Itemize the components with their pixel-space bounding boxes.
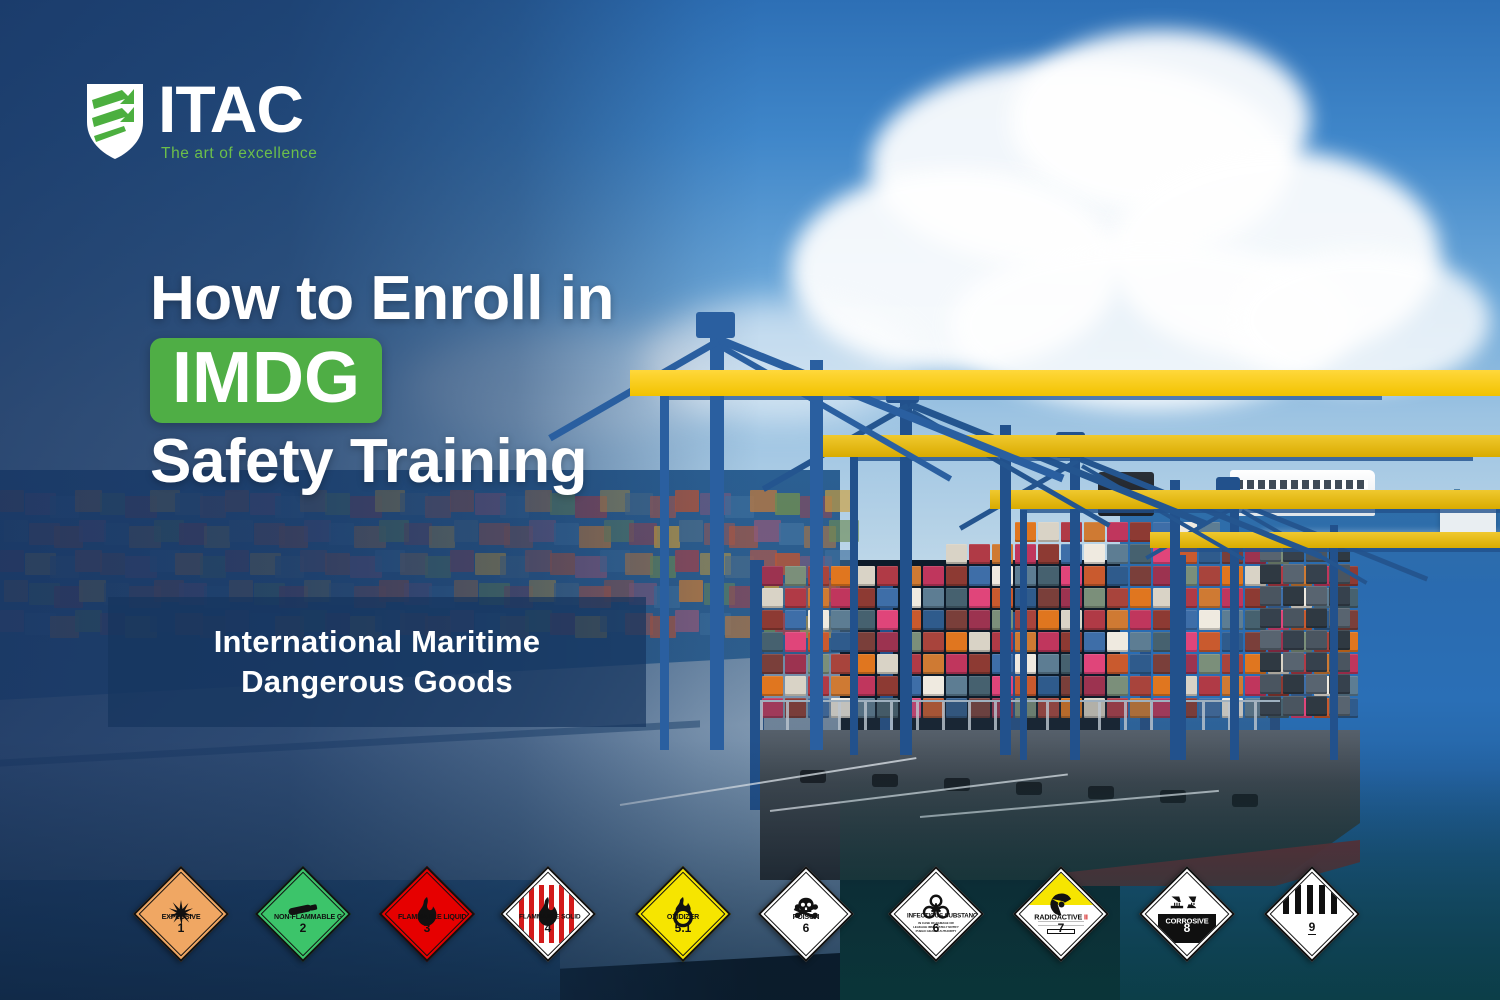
placard-diamond: INFECTIOUS SUBSTANCEIN CASE OF DAMAGE OR… xyxy=(888,866,984,962)
shipping-container xyxy=(1084,566,1105,586)
crane-boom xyxy=(630,370,1500,396)
shipping-container xyxy=(1260,630,1281,650)
shipping-container xyxy=(946,588,967,608)
shipping-container xyxy=(1306,652,1327,672)
placard-content: POISON6 xyxy=(777,885,835,943)
shipping-container xyxy=(1038,566,1059,586)
shipping-container xyxy=(946,566,967,586)
shipping-container xyxy=(923,566,944,586)
placard-inner-border: OXIDIZER5.1 xyxy=(641,872,726,957)
placard-class-number: 5.1 xyxy=(654,921,712,935)
shipping-container xyxy=(1260,608,1281,628)
boom-truss xyxy=(850,457,1473,461)
placard-content: RADIOACTIVE II7 xyxy=(1032,885,1090,943)
placard-diamond: 9 xyxy=(1264,866,1360,962)
shipping-container xyxy=(1038,588,1059,608)
shipping-container xyxy=(969,566,990,586)
crane-leg xyxy=(1180,555,1186,760)
shipping-container xyxy=(969,632,990,652)
shipping-container xyxy=(1199,566,1220,586)
shipping-container xyxy=(1130,588,1151,608)
logo-wordmark: ITAC xyxy=(158,78,317,141)
shipping-container xyxy=(831,654,852,674)
shipping-container xyxy=(1283,630,1304,650)
itac-logo[interactable]: ITAC The art of excellence xyxy=(84,78,317,163)
shipping-container xyxy=(1084,522,1105,542)
shipping-container xyxy=(762,676,783,696)
hazard-placard[interactable]: 9 xyxy=(1264,866,1360,962)
shipping-container xyxy=(1283,564,1304,584)
shipping-container xyxy=(946,632,967,652)
shipping-container xyxy=(762,654,783,674)
shipping-container xyxy=(1038,544,1059,564)
shipping-container xyxy=(946,654,967,674)
shipping-container xyxy=(1107,544,1128,564)
placard-diamond: FLAMMABLE SOLID4 xyxy=(500,866,596,962)
shipping-container xyxy=(1306,674,1327,694)
placard-label: FLAMMABLE SOLID xyxy=(519,913,577,920)
shipping-container xyxy=(1306,696,1327,716)
boom-truss xyxy=(660,396,1382,400)
shipping-container xyxy=(1260,564,1281,584)
hazard-placard[interactable]: RADIOACTIVE II7 xyxy=(1013,866,1109,962)
placard-class-number: 6 xyxy=(907,921,965,935)
shipping-container xyxy=(1107,676,1128,696)
hazard-placard[interactable]: NON-FLAMMABLE GAS2 xyxy=(255,866,351,962)
shipping-container xyxy=(1084,676,1105,696)
placard-diamond: EXPLOSIVE1 xyxy=(133,866,229,962)
shipping-container xyxy=(1283,586,1304,606)
shipping-container xyxy=(1084,632,1105,652)
shipping-container xyxy=(1283,608,1304,628)
placard-inner-border: 9 xyxy=(1270,872,1355,957)
hazard-placard[interactable]: CORROSIVE8 xyxy=(1139,866,1235,962)
placard-inner-border: FLAMMABLE SOLID4 xyxy=(506,872,591,957)
shipping-container xyxy=(831,676,852,696)
placard-inner-border: CORROSIVE8 xyxy=(1145,872,1230,957)
shipping-container xyxy=(831,610,852,630)
shipping-container xyxy=(785,632,806,652)
placard-class-number: 1 xyxy=(152,921,210,935)
shipping-container xyxy=(1199,610,1220,630)
class9-stripe-band xyxy=(1283,885,1341,914)
shipping-container xyxy=(877,566,898,586)
shipping-container xyxy=(785,610,806,630)
placard-inner-border: RADIOACTIVE II7 xyxy=(1019,872,1104,957)
placard-content: INFECTIOUS SUBSTANCEIN CASE OF DAMAGE OR… xyxy=(907,885,965,943)
placard-class-number: 6 xyxy=(777,921,835,935)
shipping-container xyxy=(1084,588,1105,608)
placard-diamond: CORROSIVE8 xyxy=(1139,866,1235,962)
shipping-container xyxy=(877,610,898,630)
shipping-container xyxy=(1306,586,1327,606)
placard-label: POISON xyxy=(777,913,835,921)
headline-line-3: Safety Training xyxy=(150,431,770,493)
crane-head xyxy=(696,312,735,338)
placard-content: CORROSIVE8 xyxy=(1158,885,1216,943)
placard-diamond: OXIDIZER5.1 xyxy=(635,866,731,962)
placard-inner-border: NON-FLAMMABLE GAS2 xyxy=(261,872,346,957)
shipping-container xyxy=(1283,674,1304,694)
placard-diamond: RADIOACTIVE II7 xyxy=(1013,866,1109,962)
shipping-container xyxy=(1084,544,1105,564)
shipping-container xyxy=(923,654,944,674)
shipping-container xyxy=(1038,522,1059,542)
crane-boom xyxy=(820,435,1500,457)
crane-leg xyxy=(850,455,858,755)
shipping-container xyxy=(1107,654,1128,674)
placard-content: NON-FLAMMABLE GAS2 xyxy=(274,885,332,943)
placard-diamond: FLAMMABLE LIQUID3 xyxy=(379,866,475,962)
placard-content: OXIDIZER5.1 xyxy=(654,885,712,943)
shipping-container xyxy=(1306,630,1327,650)
placard-inner-border: FLAMMABLE LIQUID3 xyxy=(385,872,470,957)
shipping-container xyxy=(1283,652,1304,672)
crane-leg xyxy=(1020,510,1027,760)
shipping-container xyxy=(1107,632,1128,652)
hazard-placard[interactable]: FLAMMABLE SOLID4 xyxy=(500,866,596,962)
placard-label: OXIDIZER xyxy=(654,913,712,921)
subtitle-line-2: Dangerous Goods xyxy=(241,662,513,702)
imdg-badge-label: IMDG xyxy=(172,338,360,418)
shipping-container xyxy=(923,610,944,630)
shipping-container xyxy=(946,544,967,564)
shipping-container xyxy=(785,566,806,586)
shipping-container xyxy=(1199,632,1220,652)
shipping-container xyxy=(1130,654,1151,674)
shipping-container xyxy=(946,610,967,630)
shipping-container xyxy=(785,676,806,696)
shipping-container xyxy=(1130,522,1151,542)
shipping-container xyxy=(1038,632,1059,652)
shipping-container xyxy=(1038,676,1059,696)
placard-inner-border: POISON6 xyxy=(764,872,849,957)
placard-label: INFECTIOUS SUBSTANCE xyxy=(907,912,965,919)
logo-tagline: The art of excellence xyxy=(161,145,317,163)
subtitle-panel: International Maritime Dangerous Goods xyxy=(108,597,646,727)
shipping-container xyxy=(877,676,898,696)
hazard-placard-row: EXPLOSIVE1 NON-FLAMMABLE GAS2 FLAM xyxy=(0,858,1500,978)
placard-diamond: NON-FLAMMABLE GAS2 xyxy=(255,866,351,962)
placard-content: EXPLOSIVE1 xyxy=(152,885,210,943)
hazard-placard[interactable]: POISON6 xyxy=(758,866,854,962)
placard-class-number: 8 xyxy=(1158,921,1216,935)
placard-label: FLAMMABLE LIQUID xyxy=(398,913,456,921)
placard-class-number: 7 xyxy=(1032,921,1090,935)
shipping-container xyxy=(831,632,852,652)
shipping-container xyxy=(877,654,898,674)
placard-content: 9 xyxy=(1283,885,1341,943)
placard-class-number: 2 xyxy=(274,921,332,935)
shipping-container xyxy=(877,632,898,652)
shipping-container xyxy=(1260,652,1281,672)
shipping-container xyxy=(762,566,783,586)
subtitle-line-1: International Maritime xyxy=(214,622,541,662)
shipping-container xyxy=(785,654,806,674)
shipping-container xyxy=(1199,654,1220,674)
shipping-container xyxy=(1306,608,1327,628)
imdg-training-banner: ITAC The art of excellence How to Enroll… xyxy=(0,0,1500,1000)
shipping-container xyxy=(923,632,944,652)
shipping-container xyxy=(877,588,898,608)
hazard-placard[interactable]: EXPLOSIVE1 xyxy=(133,866,229,962)
placard-class-number: 9 xyxy=(1283,920,1341,935)
shipping-container xyxy=(1084,654,1105,674)
shipping-container xyxy=(831,588,852,608)
shipping-container xyxy=(1260,586,1281,606)
shipping-container xyxy=(1038,654,1059,674)
placard-label: EXPLOSIVE xyxy=(152,913,210,921)
crane-leg xyxy=(1000,425,1011,755)
shipping-container xyxy=(1107,610,1128,630)
shipping-container xyxy=(969,544,990,564)
shipping-container xyxy=(1130,676,1151,696)
shipping-container xyxy=(969,588,990,608)
shipping-container xyxy=(1130,632,1151,652)
hazard-placard[interactable]: INFECTIOUS SUBSTANCEIN CASE OF DAMAGE OR… xyxy=(888,866,984,962)
shipping-container xyxy=(1283,696,1304,716)
placard-diamond: POISON6 xyxy=(758,866,854,962)
shipping-container xyxy=(969,610,990,630)
shipping-container xyxy=(1199,676,1220,696)
shipping-container xyxy=(1107,588,1128,608)
hazard-placard[interactable]: FLAMMABLE LIQUID3 xyxy=(379,866,475,962)
placard-content: FLAMMABLE LIQUID3 xyxy=(398,885,456,943)
placard-inner-border: INFECTIOUS SUBSTANCEIN CASE OF DAMAGE OR… xyxy=(894,872,979,957)
shipping-container xyxy=(762,610,783,630)
shipping-container xyxy=(1260,674,1281,694)
shipping-container xyxy=(969,654,990,674)
imdg-badge: IMDG xyxy=(150,338,382,423)
corrosion-hand-icon xyxy=(1158,891,1216,917)
placard-label: NON-FLAMMABLE GAS xyxy=(274,913,332,921)
placard-content: FLAMMABLE SOLID4 xyxy=(519,885,577,943)
shipping-container xyxy=(1306,564,1327,584)
crane-leg xyxy=(810,360,823,750)
shipping-container xyxy=(923,676,944,696)
headline-line-1: How to Enroll in xyxy=(150,268,770,330)
placard-class-number: 4 xyxy=(519,921,577,935)
shipping-container xyxy=(762,588,783,608)
shipping-container xyxy=(785,588,806,608)
shipping-container xyxy=(1107,566,1128,586)
shipping-container xyxy=(1199,588,1220,608)
crane-leg xyxy=(660,390,669,750)
shipping-container xyxy=(1130,566,1151,586)
shipping-container xyxy=(1107,522,1128,542)
shipping-container xyxy=(1084,610,1105,630)
itac-shield-arrows-logo xyxy=(84,78,146,162)
shipping-container xyxy=(1038,610,1059,630)
shipping-container xyxy=(923,588,944,608)
shipping-container xyxy=(1130,610,1151,630)
placard-inner-border: EXPLOSIVE1 xyxy=(139,872,224,957)
placard-class-number: 3 xyxy=(398,921,456,935)
shipping-container xyxy=(831,566,852,586)
shipping-container xyxy=(946,676,967,696)
hazard-placard[interactable]: OXIDIZER5.1 xyxy=(635,866,731,962)
shipping-container xyxy=(969,676,990,696)
bridge-windows xyxy=(1236,480,1368,489)
shipping-container xyxy=(762,632,783,652)
